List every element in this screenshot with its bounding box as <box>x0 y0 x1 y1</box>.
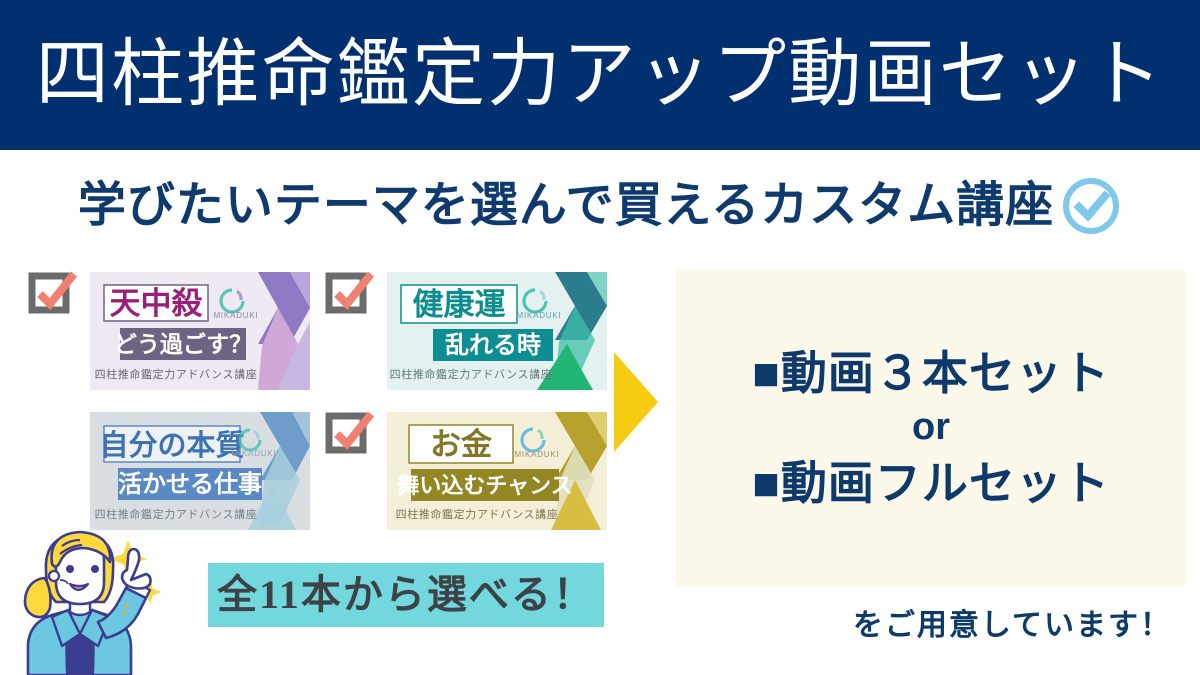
svg-text:四柱推命鑑定力アドバンス講座: 四柱推命鑑定力アドバンス講座 <box>390 367 553 381</box>
right-arrow-icon <box>612 350 660 454</box>
offer-option-1: ■動画３本セット <box>752 345 1110 401</box>
svg-text:MIKADUKI: MIKADUKI <box>231 449 276 458</box>
svg-text:四柱推命鑑定力アドバンス講座: 四柱推命鑑定力アドバンス講座 <box>396 507 559 521</box>
page-title: 四柱推命鑑定力アップ動画セット <box>36 38 1165 112</box>
header-banner: 四柱推命鑑定力アップ動画セット <box>0 0 1200 150</box>
svg-text:天中殺: 天中殺 <box>110 286 204 321</box>
svg-text:お金: お金 <box>430 427 493 462</box>
svg-text:乱れる時: 乱れる時 <box>445 332 541 359</box>
course-card[interactable]: 天中殺 MIKADUKI どう過ごす？ 四柱推命鑑定力アドバンス講座 <box>28 262 328 392</box>
offer-panel: ■動画３本セット or ■動画フルセット <box>676 270 1186 586</box>
thumbnail-art: 天中殺 MIKADUKI どう過ごす？ 四柱推命鑑定力アドバンス講座 <box>90 272 310 390</box>
thumbnail-art: お金 MIKADUKI 舞い込むチャンス 四柱推命鑑定力アドバンス講座 <box>387 412 607 530</box>
svg-text:四柱推命鑑定力アドバンス講座: 四柱推命鑑定力アドバンス講座 <box>95 367 258 381</box>
checkbox-checked-icon[interactable] <box>325 410 375 454</box>
course-thumbnail: 健康運 MIKADUKI 乱れる時 四柱推命鑑定力アドバンス講座 <box>387 272 607 390</box>
subtitle-text: 学びたいテーマを選んで買えるカスタム講座 <box>78 182 1054 230</box>
svg-text:MIKADUKI: MIKADUKI <box>514 450 559 459</box>
svg-text:活かせる仕事: 活かせる仕事 <box>118 470 262 498</box>
svg-text:舞い込むチャンス: 舞い込むチャンス <box>397 473 572 498</box>
circle-check-icon <box>1060 175 1122 237</box>
thumbnail-art: 自分の本質 MIKADUKI 活かせる仕事 四柱推命鑑定力アドバンス講座 <box>90 412 310 530</box>
svg-text:健康運: 健康運 <box>413 287 506 322</box>
course-thumbnail: 自分の本質 MIKADUKI 活かせる仕事 四柱推命鑑定力アドバンス講座 <box>90 412 310 530</box>
course-card[interactable]: お金 MIKADUKI 舞い込むチャンス 四柱推命鑑定力アドバンス講座 <box>325 402 625 532</box>
offer-option-2: ■動画フルセット <box>752 455 1110 511</box>
course-card-grid: 天中殺 MIKADUKI どう過ごす？ 四柱推命鑑定力アドバンス講座 <box>0 262 660 537</box>
checkbox-checked-icon[interactable] <box>28 270 78 314</box>
svg-text:MIKADUKI: MIKADUKI <box>516 311 561 320</box>
course-thumbnail: お金 MIKADUKI 舞い込むチャンス 四柱推命鑑定力アドバンス講座 <box>387 412 607 530</box>
svg-text:MIKADUKI: MIKADUKI <box>213 311 258 320</box>
thumbnail-art: 健康運 MIKADUKI 乱れる時 四柱推命鑑定力アドバンス講座 <box>387 272 607 390</box>
course-card[interactable]: 自分の本質 MIKADUKI 活かせる仕事 四柱推命鑑定力アドバンス講座 <box>28 402 328 532</box>
svg-text:自分の本質: 自分の本質 <box>99 429 244 462</box>
svg-text:どう過ごす？: どう過ごす？ <box>114 331 252 357</box>
woman-pointing-illustration <box>0 518 180 675</box>
selection-count-banner: 全11本から選べる！ <box>208 563 604 627</box>
subtitle-row: 学びたいテーマを選んで買えるカスタム講座 <box>0 163 1200 248</box>
course-thumbnail: 天中殺 MIKADUKI どう過ごす？ 四柱推命鑑定力アドバンス講座 <box>90 272 310 390</box>
selection-count-text: 全11本から選べる！ <box>217 575 595 615</box>
offer-separator-or: or <box>912 403 950 452</box>
closing-text: をご用意しています！ <box>676 600 1186 644</box>
poster-canvas: 四柱推命鑑定力アップ動画セット 学びたいテーマを選んで買えるカスタム講座 <box>0 0 1200 675</box>
checkbox-checked-icon[interactable] <box>325 270 375 314</box>
course-card[interactable]: 健康運 MIKADUKI 乱れる時 四柱推命鑑定力アドバンス講座 <box>325 262 625 392</box>
